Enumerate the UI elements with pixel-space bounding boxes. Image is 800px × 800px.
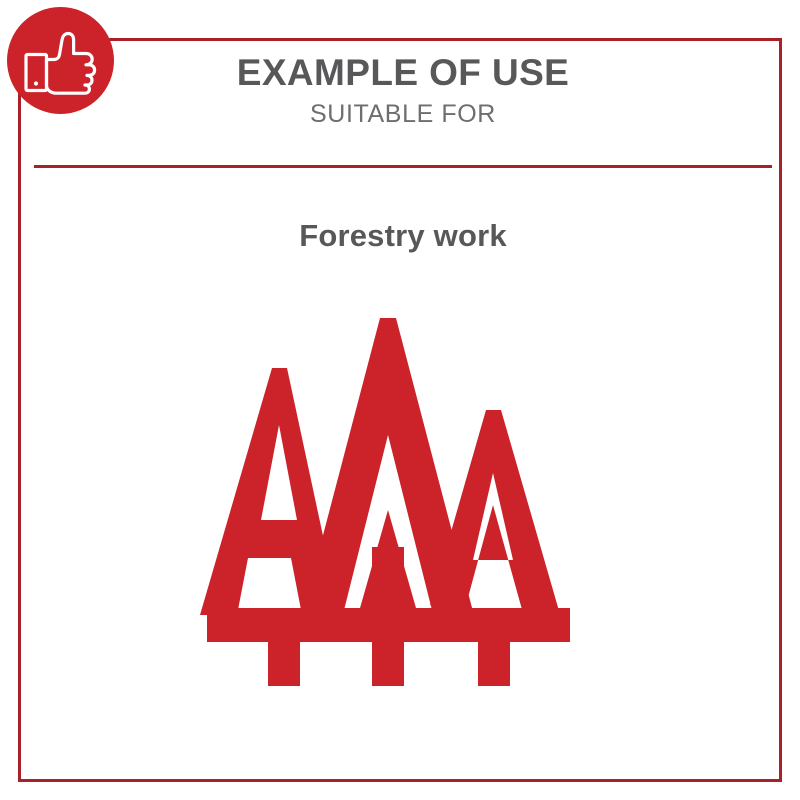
page-subtitle: SUITABLE FOR bbox=[34, 99, 772, 129]
trunk-center bbox=[372, 547, 404, 686]
use-case-label: Forestry work bbox=[34, 218, 772, 254]
trunk-left bbox=[268, 642, 300, 686]
example-of-use-card: EXAMPLE OF USE SUITABLE FOR Forestry wor… bbox=[0, 0, 800, 800]
page-title: EXAMPLE OF USE bbox=[34, 52, 772, 93]
trunk-right bbox=[478, 642, 510, 686]
header-block: EXAMPLE OF USE SUITABLE FOR bbox=[34, 52, 772, 129]
forestry-pictogram bbox=[190, 305, 590, 705]
forest-trees-icon bbox=[200, 318, 570, 686]
header-divider bbox=[34, 165, 772, 168]
